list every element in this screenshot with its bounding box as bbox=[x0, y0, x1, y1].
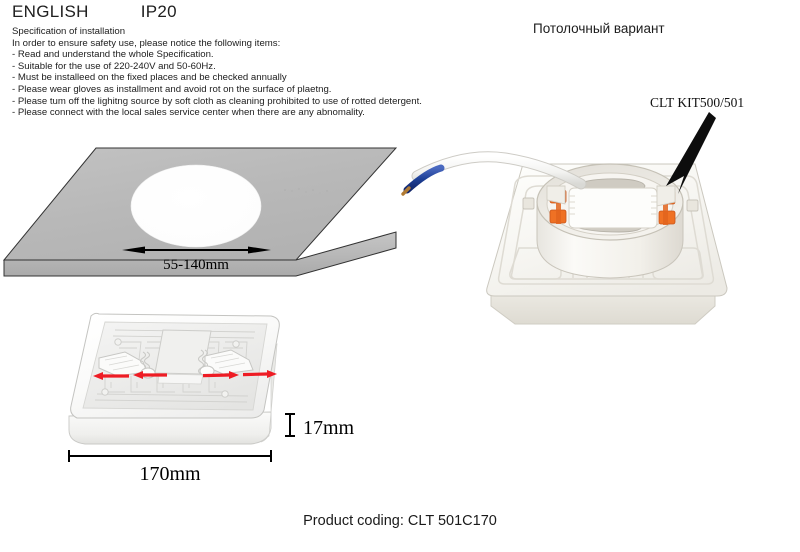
spec-item: - Must be installeed on the fixed places… bbox=[12, 72, 442, 84]
width-dimension-label: 170mm bbox=[139, 463, 201, 485]
header-row: ENGLISH IP20 bbox=[12, 2, 177, 22]
figure-ceiling-cutout: 55-140mm bbox=[0, 128, 400, 318]
spec-heading: Specification of installation bbox=[12, 26, 442, 38]
ceiling-slab-svg: 55-140mm bbox=[0, 128, 400, 313]
spec-item: - Please tum off the lighitng source by … bbox=[12, 96, 442, 108]
callout-arrow-icon bbox=[660, 108, 720, 208]
spec-intro: In order to ensure safety use, please no… bbox=[12, 38, 442, 50]
terminal-block-body bbox=[569, 188, 657, 228]
spec-item: - Please connect with the local sales se… bbox=[12, 107, 442, 119]
specification-block: Specification of installation In order t… bbox=[12, 26, 442, 119]
width-dimension-line bbox=[69, 450, 271, 462]
height-dimension-label: 17mm bbox=[303, 417, 355, 439]
slab-cutout-hole bbox=[131, 165, 261, 247]
spec-item: - Please wear gloves as installment and … bbox=[12, 84, 442, 96]
ceiling-mount-svg bbox=[395, 128, 795, 338]
height-dimension-marker bbox=[285, 414, 295, 436]
figure-fixture-back: 17mm 170mm bbox=[55, 308, 395, 493]
cutout-dimension-label: 55-140mm bbox=[163, 257, 229, 273]
fixture-back-svg: 17mm 170mm bbox=[55, 308, 395, 488]
spec-item: - Suitable for the use of 220-240V and 5… bbox=[12, 61, 442, 73]
product-coding-label: Product coding: CLT 501C170 bbox=[0, 513, 800, 529]
ceiling-variant-label: Потолочный вариант bbox=[533, 21, 665, 36]
ip-rating-label: IP20 bbox=[141, 2, 177, 22]
spec-item: - Read and understand the whole Specific… bbox=[12, 49, 442, 61]
kit-callout-arrow bbox=[660, 108, 720, 213]
language-title: ENGLISH bbox=[12, 2, 89, 22]
figure-ceiling-mount bbox=[395, 128, 795, 343]
